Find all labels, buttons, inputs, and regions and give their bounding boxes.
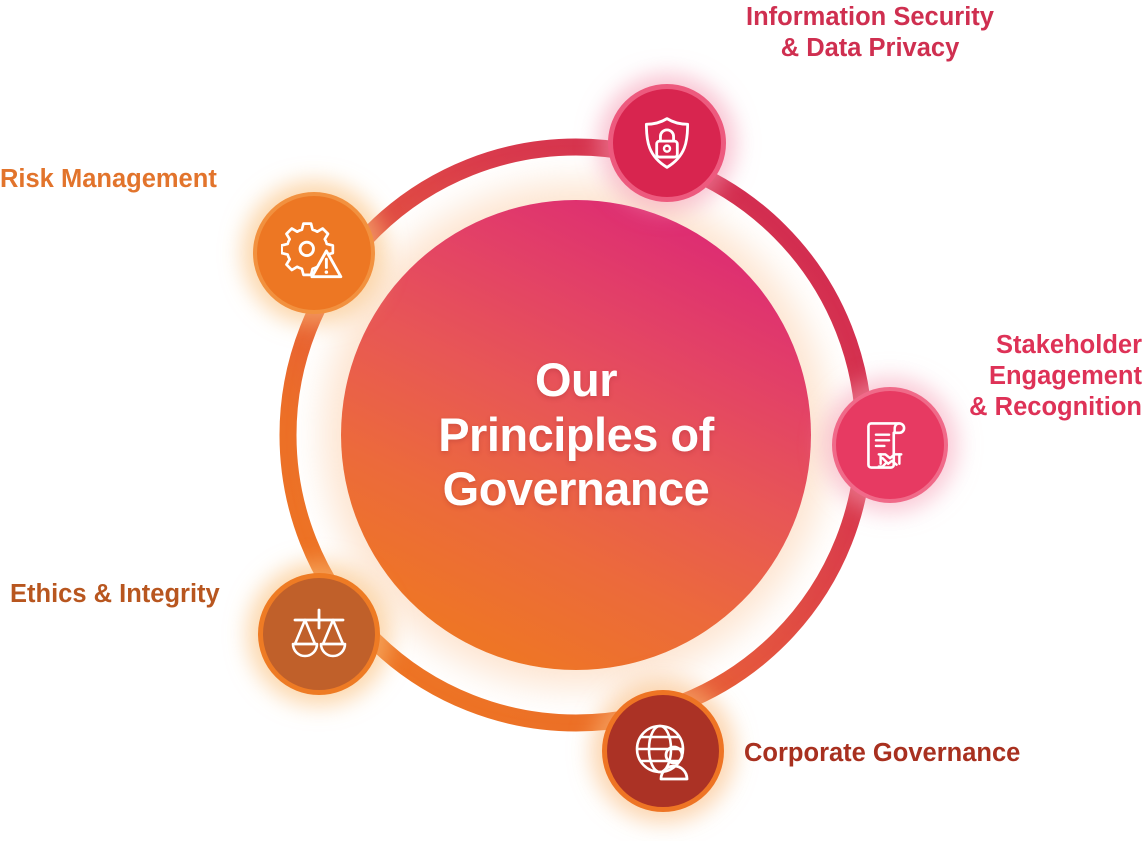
globe-person-icon	[631, 719, 695, 783]
node-risk-management[interactable]	[253, 192, 375, 314]
label-risk-management: Risk Management	[0, 164, 240, 195]
balance-scales-icon	[287, 602, 351, 666]
label-corporate-governance: Corporate Governance	[744, 738, 1104, 769]
gear-warning-icon	[281, 220, 347, 286]
document-handshake-icon	[860, 415, 920, 475]
node-information-security[interactable]	[608, 84, 726, 202]
principles-of-governance-diagram: Our Principles of Governance	[0, 0, 1142, 841]
label-stakeholder-engagement: Stakeholder Engagement & Recognition	[800, 330, 1142, 423]
node-ethics-integrity[interactable]	[258, 573, 380, 695]
label-ethics-integrity: Ethics & Integrity	[10, 579, 245, 610]
label-information-security: Information Security & Data Privacy	[660, 2, 1080, 64]
shield-lock-icon	[637, 113, 697, 173]
center-hub: Our Principles of Governance	[341, 200, 811, 670]
node-corporate-governance[interactable]	[602, 690, 724, 812]
page-title: Our Principles of Governance	[438, 353, 714, 517]
